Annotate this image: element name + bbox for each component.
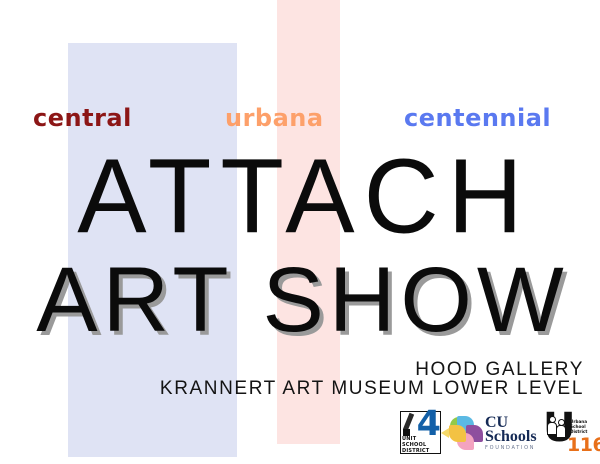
people-figures-icon [549, 416, 567, 438]
venue-museum-location: KRANNERT ART MUSEUM LOWER LEVEL [160, 379, 584, 398]
venue-gallery-name: HOOD GALLERY [415, 360, 584, 379]
cu-schools-wordmark: CU Schools FOUNDATION [485, 415, 537, 451]
paintbrush-tip-icon [403, 429, 410, 436]
cu-foundation-text: FOUNDATION [485, 446, 537, 451]
poster-title-line-1: ATTACH [0, 144, 600, 250]
urbana-116-number: 116 [567, 436, 600, 455]
school-name-urbana: urbana [225, 106, 324, 130]
pinwheel-star-icon [449, 416, 483, 450]
school-name-centennial: centennial [404, 106, 551, 130]
urbana-116-logo: U Urbana School District 116 [543, 410, 600, 456]
unit-4-wordmark: UNIT SCHOOL DISTRICT [402, 436, 429, 454]
sponsor-logo-strip: 4 UNIT SCHOOL DISTRICT CU [399, 409, 591, 457]
cu-schools-text: Schools [485, 429, 537, 445]
art-show-poster: central urbana centennial ATTACH ART SHO… [0, 0, 600, 464]
yellow-arrow-icon [441, 428, 449, 438]
poster-title-line-2: ART SHOW [0, 254, 600, 346]
school-name-central: central [33, 106, 132, 130]
cu-schools-foundation-logo: CU Schools FOUNDATION [449, 410, 537, 456]
school-names-row: central urbana centennial [0, 100, 600, 136]
unit-4-line-3: DISTRICT [402, 448, 429, 454]
urbana-district-wordmark: Urbana School District [570, 419, 587, 434]
unit-4-school-district-logo: 4 UNIT SCHOOL DISTRICT [399, 410, 443, 456]
